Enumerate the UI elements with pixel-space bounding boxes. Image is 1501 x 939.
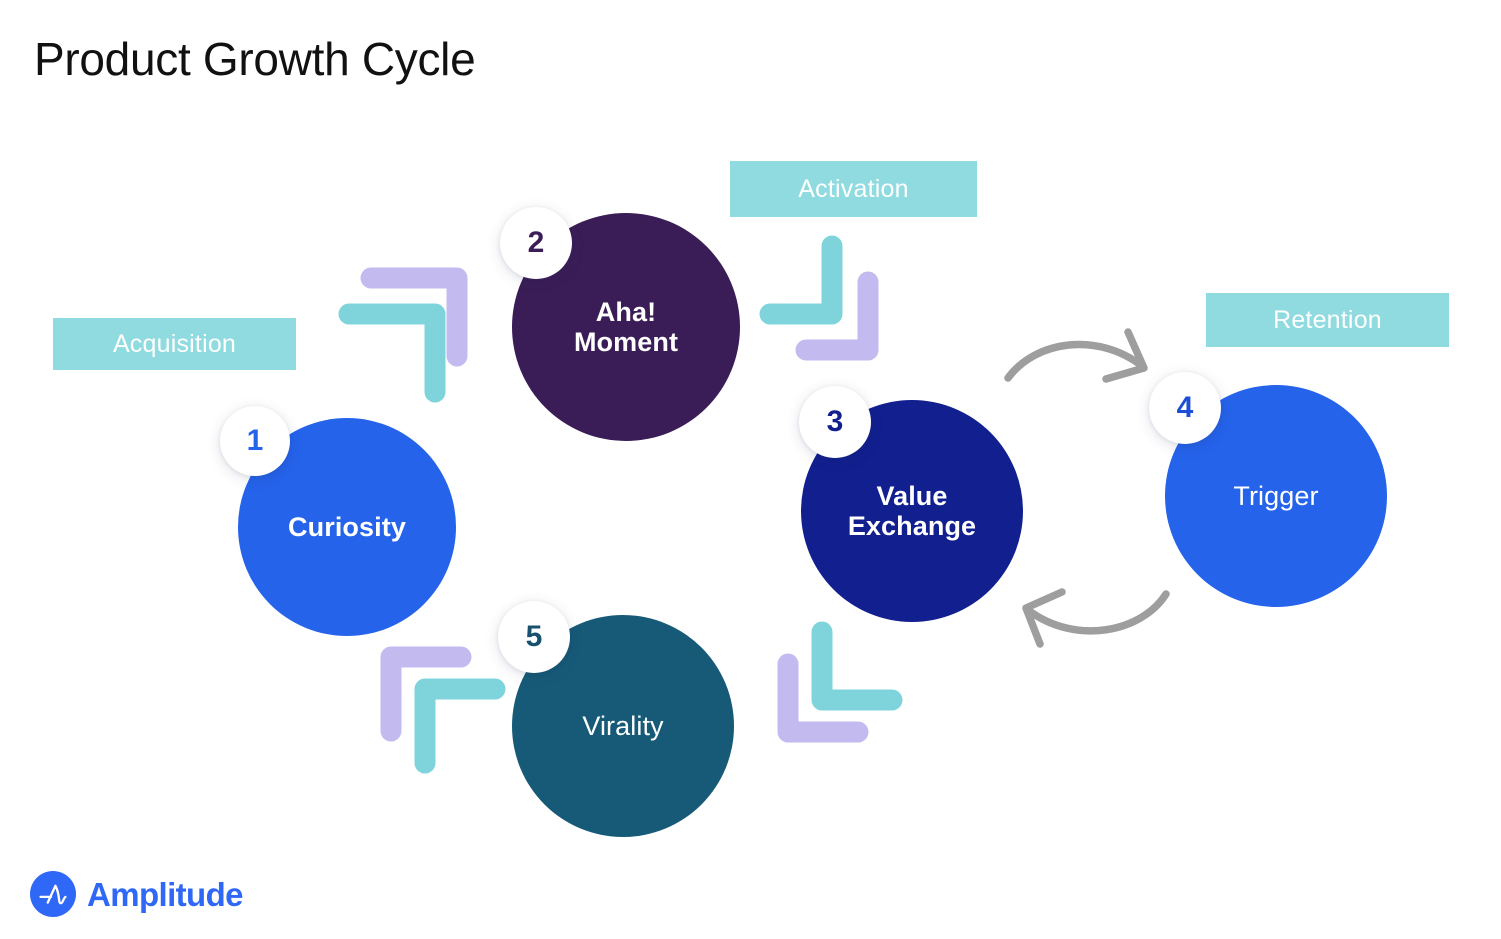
connector-aha-to-value xyxy=(762,238,892,363)
node-badge-4: 4 xyxy=(1149,372,1221,444)
node-badge-1: 1 xyxy=(220,406,290,476)
page-title: Product Growth Cycle xyxy=(34,34,475,85)
connector-virality-to-curiosity xyxy=(375,643,515,773)
node-trigger[interactable]: Trigger 4 xyxy=(1165,385,1387,607)
node-value-exchange[interactable]: Value Exchange 3 xyxy=(801,400,1023,622)
cycle-arrow-value-to-trigger xyxy=(1002,326,1162,404)
stage-chip-label: Retention xyxy=(1273,306,1382,335)
connector-value-to-virality xyxy=(772,618,912,748)
brand-wordmark: Amplitude xyxy=(87,878,243,911)
elbow-pair-icon xyxy=(345,268,475,393)
node-label: Trigger xyxy=(1223,481,1328,511)
stage-chip-retention: Retention xyxy=(1206,293,1449,347)
curved-arrow-left-icon xyxy=(1014,586,1174,664)
node-label: Aha! Moment xyxy=(564,297,688,357)
cycle-arrow-trigger-to-value xyxy=(1014,586,1174,664)
node-virality[interactable]: Virality 5 xyxy=(512,615,734,837)
node-aha-moment[interactable]: Aha! Moment 2 xyxy=(512,213,740,441)
diagram-canvas: Product Growth Cycle Acquisition Activat… xyxy=(0,0,1501,939)
node-badge-2: 2 xyxy=(500,207,572,279)
node-label: Value Exchange xyxy=(838,481,986,541)
node-badge-5: 5 xyxy=(498,601,570,673)
stage-chip-label: Acquisition xyxy=(113,330,236,359)
node-badge-3: 3 xyxy=(799,386,871,458)
amplitude-logo-icon xyxy=(30,871,76,917)
stage-chip-label: Activation xyxy=(798,175,908,204)
elbow-pair-icon xyxy=(762,238,892,363)
stage-chip-activation: Activation xyxy=(730,161,977,217)
elbow-pair-icon xyxy=(772,618,912,748)
connector-acquisition-to-aha xyxy=(345,268,475,393)
node-curiosity[interactable]: Curiosity 1 xyxy=(238,418,456,636)
node-label: Virality xyxy=(572,711,673,741)
elbow-pair-icon xyxy=(375,643,515,773)
stage-chip-acquisition: Acquisition xyxy=(53,318,296,370)
curved-arrow-right-icon xyxy=(1002,326,1162,404)
brand-logo: Amplitude xyxy=(30,871,243,917)
node-label: Curiosity xyxy=(278,512,416,542)
